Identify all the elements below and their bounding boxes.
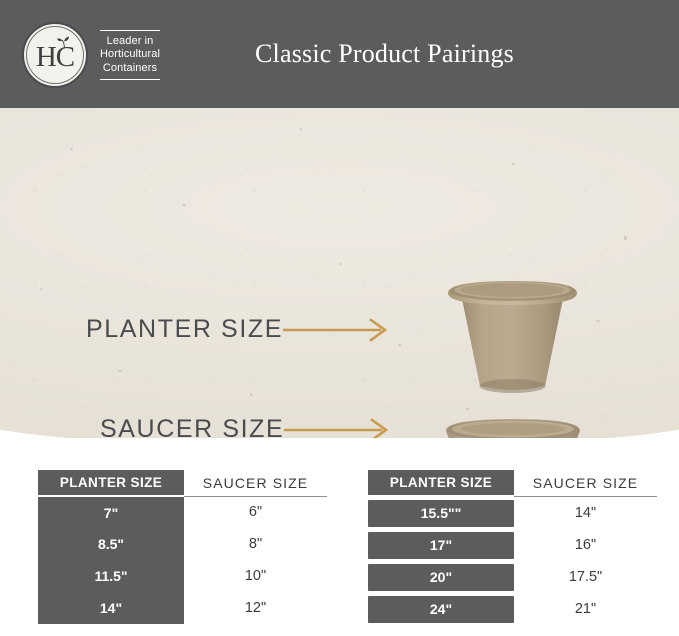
planter-size-band: 20" xyxy=(368,564,514,591)
table-row: 11.5"10" xyxy=(38,560,327,592)
arrow-right-icon xyxy=(284,417,394,439)
planter-pot-image xyxy=(440,273,585,403)
cell-saucer-size: 16" xyxy=(514,529,657,561)
planter-size-label: PLANTER SIZE xyxy=(86,315,283,344)
table-row: 17"16" xyxy=(368,529,657,561)
table-row: 24"21" xyxy=(368,593,657,625)
cell-planter-size: 14" xyxy=(38,592,184,624)
cell-saucer-size: 10" xyxy=(184,560,327,592)
cell-planter-size: 17" xyxy=(368,529,514,561)
size-tables-section: PLANTER SIZESAUCER SIZE7"6"8.5"8"11.5"10… xyxy=(0,470,679,636)
size-table-left: PLANTER SIZESAUCER SIZE7"6"8.5"8"11.5"10… xyxy=(38,470,327,636)
table-row: 14"12" xyxy=(38,592,327,624)
cell-planter-size: 20" xyxy=(368,561,514,593)
texture-speck xyxy=(466,408,469,410)
texture-speck xyxy=(624,236,627,240)
hero-section: PLANTER SIZE SAUCER SIZE xyxy=(0,108,679,438)
arrow-right-icon xyxy=(283,317,393,343)
table-small-sizes: PLANTER SIZESAUCER SIZE7"6"8.5"8"11.5"10… xyxy=(38,470,327,624)
column-header-planter-size: PLANTER SIZE xyxy=(38,470,184,496)
cell-planter-size: 7" xyxy=(38,496,184,528)
cell-planter-size: 15.5"" xyxy=(368,496,514,529)
texture-speck xyxy=(340,263,342,265)
texture-speck xyxy=(398,344,401,346)
texture-speck xyxy=(182,204,186,206)
texture-speck xyxy=(596,320,600,322)
cell-saucer-size: 12" xyxy=(184,592,327,624)
table-row: 7"6" xyxy=(38,496,327,528)
planter-size-band: 24" xyxy=(368,596,514,623)
cell-planter-size: 24" xyxy=(368,593,514,625)
page-title: Classic Product Pairings xyxy=(0,0,679,108)
cell-saucer-size: 21" xyxy=(514,593,657,625)
table-large-sizes: PLANTER SIZESAUCER SIZE15.5""14"17"16"20… xyxy=(368,470,657,625)
saucer-image xyxy=(438,413,588,438)
texture-speck xyxy=(40,288,42,290)
header-bar: HC Leader in Horticultural Containers Cl… xyxy=(0,0,679,108)
cell-planter-size: 8.5" xyxy=(38,528,184,560)
table-row: 20"17.5" xyxy=(368,561,657,593)
cell-saucer-size: 6" xyxy=(184,496,327,528)
column-header-planter-size: PLANTER SIZE xyxy=(368,470,514,496)
texture-speck xyxy=(70,148,73,150)
size-table-right: PLANTER SIZESAUCER SIZE15.5""14"17"16"20… xyxy=(368,470,657,636)
texture-speck xyxy=(250,393,252,396)
saucer-size-label: SAUCER SIZE xyxy=(100,415,284,438)
cell-planter-size: 11.5" xyxy=(38,560,184,592)
product-pairings-infographic: HC Leader in Horticultural Containers Cl… xyxy=(0,0,679,636)
planter-size-callout: PLANTER SIZE xyxy=(86,315,393,344)
table-row: 15.5""14" xyxy=(368,496,657,529)
table-header-row: PLANTER SIZESAUCER SIZE xyxy=(368,470,657,496)
texture-speck xyxy=(512,163,515,165)
planter-size-band: 15.5"" xyxy=(368,500,514,527)
column-header-saucer-size: SAUCER SIZE xyxy=(514,470,657,496)
texture-speck xyxy=(118,370,122,372)
table-header-row: PLANTER SIZESAUCER SIZE xyxy=(38,470,327,496)
cell-saucer-size: 8" xyxy=(184,528,327,560)
table-row: 8.5"8" xyxy=(38,528,327,560)
saucer-size-callout: SAUCER SIZE xyxy=(100,415,394,438)
planter-size-band: 17" xyxy=(368,532,514,559)
cell-saucer-size: 17.5" xyxy=(514,561,657,593)
cell-saucer-size: 14" xyxy=(514,496,657,529)
texture-speck xyxy=(300,128,302,131)
column-header-saucer-size: SAUCER SIZE xyxy=(184,470,327,496)
